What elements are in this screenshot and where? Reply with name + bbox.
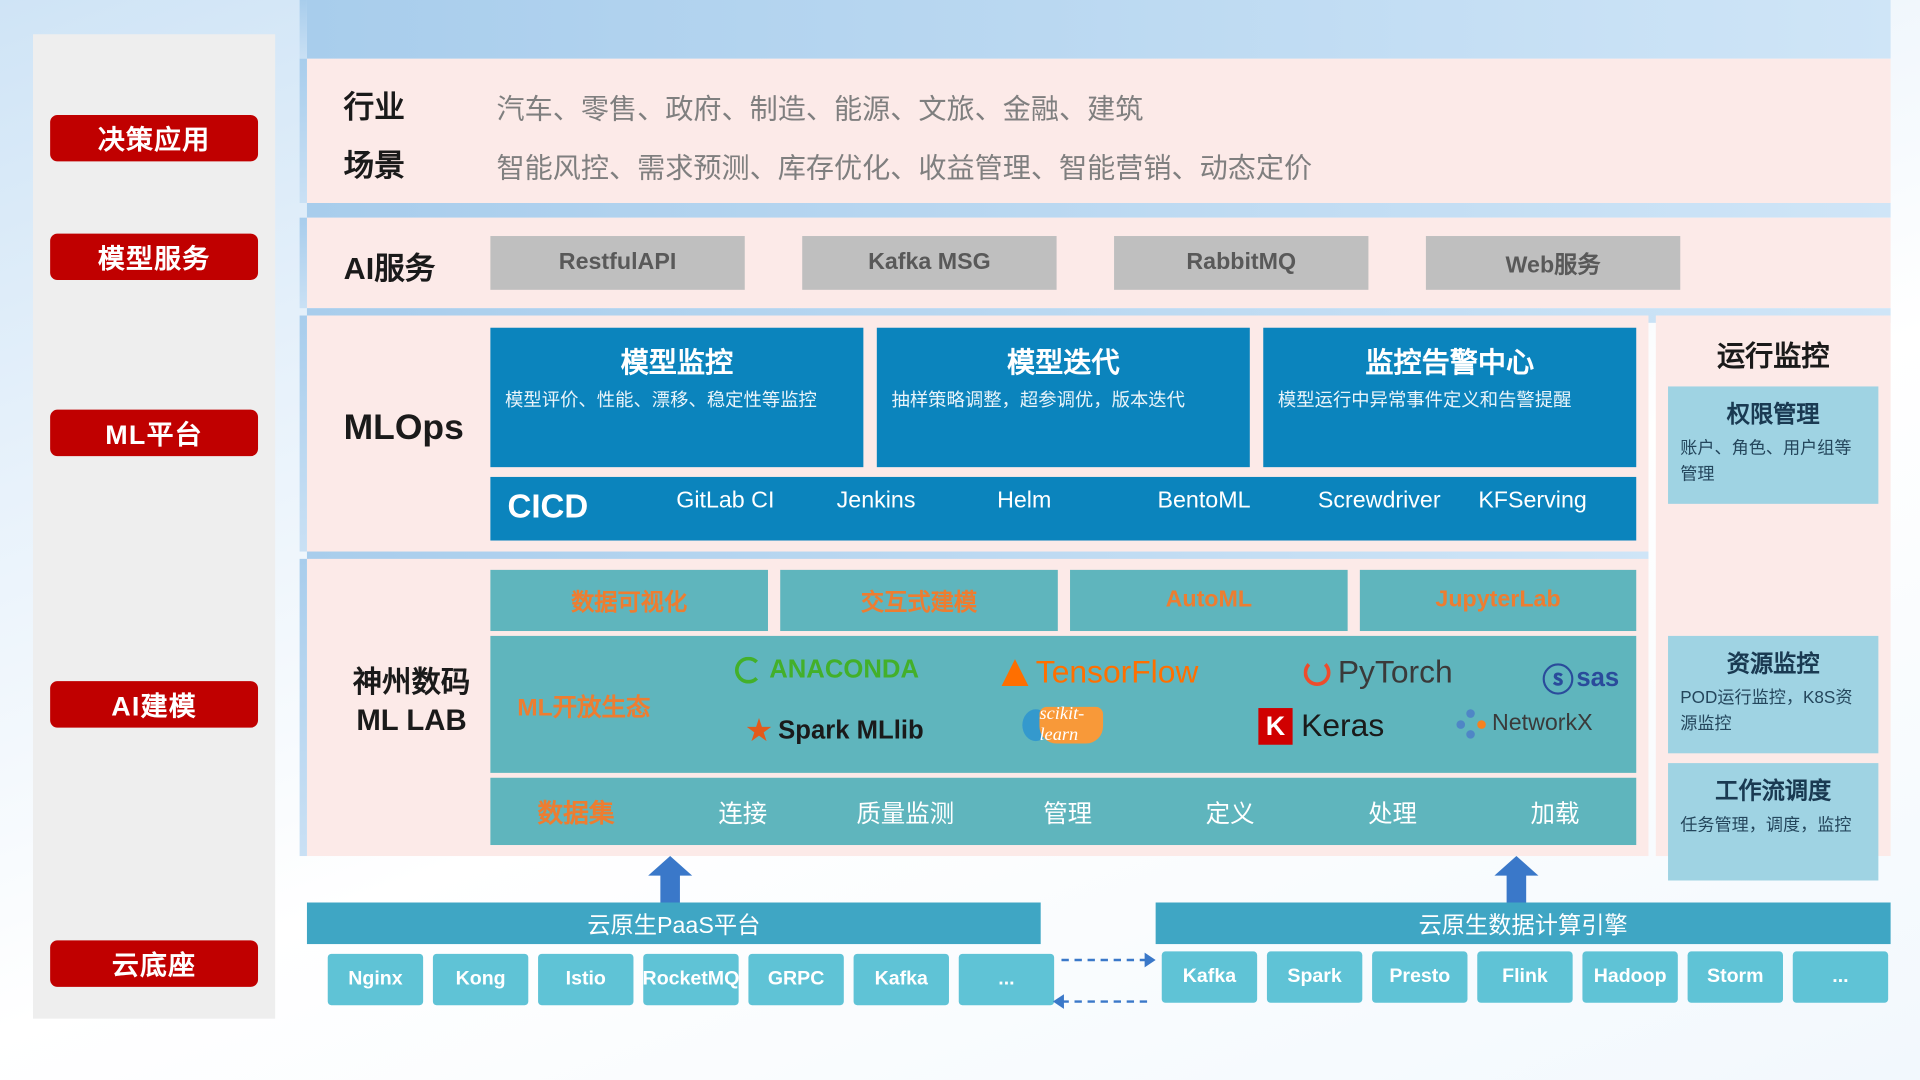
monitor-card-title: 权限管理: [1680, 396, 1866, 429]
sas-icon: ⓢ: [1542, 655, 1574, 700]
scikit-learn-logo: scikit-learn: [1022, 707, 1103, 744]
dataset-item-define[interactable]: 定义: [1149, 794, 1311, 829]
cloud-pill-grpc[interactable]: GRPC: [748, 954, 843, 1005]
top-gradient-strip: [307, 0, 1891, 59]
monitor-card-resource[interactable]: 资源监控 POD运行监控，K8S资源监控: [1668, 636, 1878, 753]
dashed-connector-left: [1061, 1000, 1147, 1002]
monitor-card-permission[interactable]: 权限管理 账户、角色、用户组等管理: [1668, 386, 1878, 503]
dashed-arrowhead-right: [1145, 953, 1156, 968]
dataset-item-quality-monitor[interactable]: 质量监测: [824, 794, 986, 829]
tensorflow-label: TensorFlow: [1036, 653, 1199, 691]
service-button-rabbitmq[interactable]: RabbitMQ: [1114, 236, 1368, 290]
mlops-card-desc: 抽样策略调整，超参调优，版本迭代: [891, 388, 1235, 415]
keras-icon: K: [1258, 707, 1292, 744]
runtime-monitor-title: 运行监控: [1656, 333, 1891, 375]
toolbox-interactive-modeling[interactable]: 交互式建模: [780, 570, 1058, 631]
anaconda-label: ANACONDA: [769, 655, 919, 684]
architecture-diagram: 决策应用 模型服务 ML平台 AI建模 云底座 行业 汽车、零售、政府、制造、能…: [0, 0, 1920, 1076]
mlops-card-model-monitoring[interactable]: 模型监控 模型评价、性能、漂移、稳定性等监控: [490, 328, 863, 467]
dashed-arrowhead-left: [1053, 994, 1064, 1009]
pytorch-label: PyTorch: [1338, 653, 1453, 691]
mllab-label-line2: ML LAB: [329, 702, 494, 740]
mllab-label: 神州数码 ML LAB: [329, 664, 494, 740]
cloud-pill-kong[interactable]: Kong: [433, 954, 528, 1005]
cicd-item-helm[interactable]: Helm: [987, 488, 1147, 515]
dataset-item-process[interactable]: 处理: [1311, 794, 1473, 829]
arrow-up-data-engine: [1494, 856, 1538, 905]
arrow-up-paas: [648, 856, 692, 905]
cloud-pill-hadoop[interactable]: Hadoop: [1582, 951, 1677, 1002]
industry-text: 汽车、零售、政府、制造、能源、文旅、金融、建筑: [496, 86, 1143, 128]
dataset-title: 数据集: [490, 793, 661, 830]
pytorch-logo: PyTorch: [1304, 653, 1453, 691]
ecosystem-label: ML开放生态: [517, 687, 650, 722]
cloud-pill-more-right[interactable]: ...: [1793, 951, 1888, 1002]
cloud-pill-presto[interactable]: Presto: [1372, 951, 1467, 1002]
layer-chip-cloud-base[interactable]: 云底座: [50, 940, 258, 986]
mlops-row: MLOps 模型监控 模型评价、性能、漂移、稳定性等监控 模型迭代 抽样策略调整…: [307, 316, 1649, 552]
mlops-card-desc: 模型运行中异常事件定义和告警提醒: [1278, 388, 1622, 415]
pytorch-icon: [1304, 659, 1331, 686]
monitor-card-title: 工作流调度: [1680, 773, 1866, 806]
cicd-bar: CICD GitLab CI Jenkins Helm BentoML Scre…: [490, 477, 1636, 541]
cicd-item-screwdriver[interactable]: Screwdriver: [1308, 488, 1468, 515]
separator-1: [307, 203, 1891, 218]
networkx-label: NetworkX: [1492, 711, 1593, 738]
cloud-pill-kafka-right[interactable]: Kafka: [1162, 951, 1257, 1002]
paas-platform-bar: 云原生PaaS平台: [307, 903, 1041, 945]
mlops-card-desc: 模型评价、性能、漂移、稳定性等监控: [505, 388, 849, 415]
networkx-icon: [1456, 709, 1485, 738]
cloud-pill-kafka[interactable]: Kafka: [854, 954, 949, 1005]
cicd-item-kfserving[interactable]: KFServing: [1469, 488, 1629, 515]
sas-logo: ⓢ sas: [1542, 655, 1619, 700]
dashed-connector-right: [1061, 959, 1147, 961]
mlops-label: MLOps: [344, 408, 464, 448]
scenario-text: 智能风控、需求预测、库存优化、收益管理、智能营销、动态定价: [496, 144, 1312, 186]
tensorflow-icon: [1002, 659, 1029, 686]
ml-open-ecosystem: ML开放生态 ANACONDA TensorFlow PyTorch ⓢ sas: [490, 636, 1636, 773]
mlops-card-model-iteration[interactable]: 模型迭代 抽样策略调整，超参调优，版本迭代: [877, 328, 1250, 467]
mllab-row: 神州数码 ML LAB 数据可视化 交互式建模 AutoML JupyterLa…: [307, 559, 1649, 856]
dataset-item-connect[interactable]: 连接: [662, 794, 824, 829]
industry-label: 行业: [344, 83, 405, 127]
data-engine-bar: 云原生数据计算引擎: [1156, 903, 1891, 945]
cicd-item-gitlab-ci[interactable]: GitLab CI: [666, 488, 826, 515]
dataset-item-manage[interactable]: 管理: [986, 794, 1148, 829]
cicd-item-bentoml[interactable]: BentoML: [1148, 488, 1308, 515]
sas-label: sas: [1576, 663, 1619, 692]
tensorflow-logo: TensorFlow: [1002, 653, 1199, 691]
toolbox-data-visualization[interactable]: 数据可视化: [490, 570, 768, 631]
layer-rail: 决策应用 模型服务 ML平台 AI建模 云底座: [33, 34, 275, 1018]
monitor-card-desc: 账户、角色、用户组等管理: [1680, 435, 1866, 486]
mlops-card-alert-center[interactable]: 监控告警中心 模型运行中异常事件定义和告警提醒: [1263, 328, 1636, 467]
cloud-pill-nginx[interactable]: Nginx: [328, 954, 423, 1005]
dataset-item-load[interactable]: 加载: [1474, 794, 1636, 829]
layer-chip-decision-app[interactable]: 决策应用: [50, 115, 258, 161]
monitor-card-title: 资源监控: [1680, 646, 1866, 679]
scenario-label: 场景: [344, 142, 405, 186]
toolbox-jupyterlab[interactable]: JupyterLab: [1360, 570, 1636, 631]
ai-service-label: AI服务: [344, 245, 436, 289]
anaconda-icon: [735, 657, 762, 684]
monitor-card-desc: 任务管理，调度，监控: [1680, 812, 1866, 838]
service-button-kafka-msg[interactable]: Kafka MSG: [802, 236, 1056, 290]
cicd-title: CICD: [508, 488, 667, 526]
cloud-pill-storm[interactable]: Storm: [1688, 951, 1783, 1002]
spark-label: Spark MLlib: [778, 716, 924, 745]
layer-chip-ml-platform[interactable]: ML平台: [50, 410, 258, 456]
ai-service-row: AI服务 RestfulAPI Kafka MSG RabbitMQ Web服务: [307, 218, 1891, 308]
cloud-pill-istio[interactable]: Istio: [538, 954, 633, 1005]
cloud-pill-spark[interactable]: Spark: [1267, 951, 1362, 1002]
mlops-card-title: 模型迭代: [891, 339, 1235, 381]
keras-logo: K Keras: [1258, 707, 1384, 745]
keras-label: Keras: [1301, 707, 1384, 745]
runtime-monitor-column: 运行监控 权限管理 账户、角色、用户组等管理 资源监控 POD运行监控，K8S资…: [1656, 316, 1891, 857]
mllab-label-line1: 神州数码: [329, 664, 494, 702]
cicd-item-jenkins[interactable]: Jenkins: [827, 488, 987, 515]
dataset-bar: 数据集 连接 质量监测 管理 定义 处理 加载: [490, 778, 1636, 845]
cloud-pill-flink[interactable]: Flink: [1477, 951, 1572, 1002]
layer-chip-model-service[interactable]: 模型服务: [50, 234, 258, 280]
monitor-card-desc: POD运行监控，K8S资源监控: [1680, 685, 1866, 736]
service-button-restfulapi[interactable]: RestfulAPI: [490, 236, 744, 290]
spark-icon: ★: [745, 712, 774, 750]
toolbox-automl[interactable]: AutoML: [1070, 570, 1348, 631]
monitor-card-workflow[interactable]: 工作流调度 任务管理，调度，监控: [1668, 763, 1878, 880]
mlops-card-title: 监控告警中心: [1278, 339, 1622, 381]
mlops-card-title: 模型监控: [505, 339, 849, 381]
scikit-learn-label: scikit-learn: [1039, 707, 1103, 744]
spark-mllib-logo: ★ Spark MLlib: [745, 712, 924, 750]
cloud-pill-rocketmq[interactable]: RocketMQ: [643, 954, 738, 1005]
anaconda-logo: ANACONDA: [735, 655, 919, 684]
layer-chip-ai-modeling[interactable]: AI建模: [50, 681, 258, 727]
networkx-logo: NetworkX: [1456, 709, 1592, 738]
cloud-pill-more-left[interactable]: ...: [959, 954, 1054, 1005]
service-button-web[interactable]: Web服务: [1426, 236, 1680, 290]
decision-app-row: 行业 汽车、零售、政府、制造、能源、文旅、金融、建筑 场景 智能风控、需求预测、…: [307, 59, 1891, 203]
